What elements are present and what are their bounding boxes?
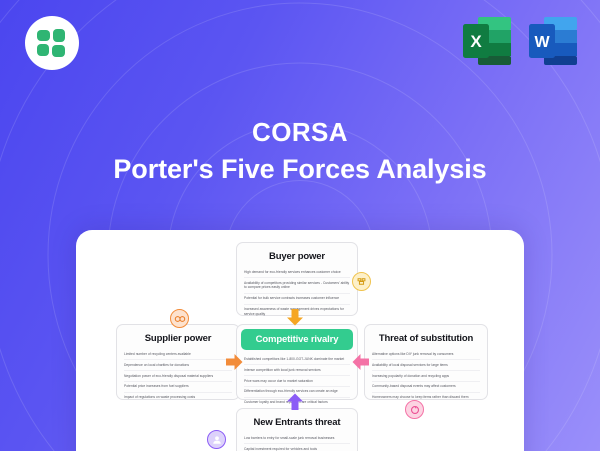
badge-supplier-power[interactable] (170, 309, 189, 328)
recycle-icon (409, 404, 421, 416)
list-item: High demand for eco-friendly services en… (244, 267, 350, 278)
card-new-entrants-threat[interactable]: New Entrants threat Low barriers to entr… (236, 408, 358, 451)
five-forces-board: Buyer power High demand for eco-friendly… (76, 230, 524, 451)
card-title-supplier-power: Supplier power (117, 325, 239, 349)
excel-icon[interactable]: X (460, 14, 514, 68)
list-item: Capital investment required for vehicles… (244, 444, 350, 451)
arrow-left-icon (352, 353, 369, 371)
page-title: CORSA (0, 118, 600, 148)
list-item: Homeowners may choose to keep items rath… (372, 393, 480, 403)
card-competitive-rivalry[interactable]: Competitive rivalry Established competit… (236, 324, 358, 400)
bullets-threat-of-substitution: Alternative options like DIY junk remova… (365, 349, 487, 410)
slide-canvas: X W CORSA Porter's Five Forces Analysis … (0, 0, 600, 451)
list-item: Potential price increases from fuel supp… (124, 382, 232, 393)
list-item: Increasing popularity of donation and re… (372, 371, 480, 382)
arrow-up-icon (286, 393, 304, 410)
list-item: Availability of competitors providing si… (244, 278, 350, 294)
brand-logo[interactable] (25, 16, 79, 70)
badge-buyer-power[interactable] (352, 272, 371, 291)
list-item: Limited number of recycling centers avai… (124, 349, 232, 360)
list-item: Potential for bulk service contracts inc… (244, 294, 350, 305)
bullets-supplier-power: Limited number of recycling centers avai… (117, 349, 239, 410)
list-item: Availability of local disposal services … (372, 360, 480, 371)
card-buyer-power[interactable]: Buyer power High demand for eco-friendly… (236, 242, 358, 316)
badge-new-entrants-threat[interactable] (207, 430, 226, 449)
card-title-competitive-rivalry: Competitive rivalry (241, 329, 353, 350)
diagram-panel: Buyer power High demand for eco-friendly… (76, 230, 524, 451)
list-item: Established competitors like 1-800-GOT-J… (244, 354, 350, 365)
list-item: Alternative options like DIY junk remova… (372, 349, 480, 360)
list-item: Community-based disposal events may affe… (372, 382, 480, 393)
arrow-right-icon (226, 353, 243, 371)
list-item: Dependence on local charities for donati… (124, 360, 232, 371)
user-icon (211, 434, 223, 446)
grid-blocks-logo-icon (37, 29, 67, 57)
title-block: CORSA Porter's Five Forces Analysis (0, 118, 600, 187)
card-title-new-entrants-threat: New Entrants threat (237, 409, 357, 433)
arrow-down-icon (286, 309, 304, 326)
badge-threat-of-substitution[interactable] (405, 400, 424, 419)
svg-text:X: X (470, 32, 482, 51)
svg-text:W: W (534, 34, 550, 51)
card-title-buyer-power: Buyer power (237, 243, 357, 267)
word-icon[interactable]: W (526, 14, 580, 68)
list-item: Impact of regulations on waste processin… (124, 393, 232, 403)
card-supplier-power[interactable]: Supplier power Limited number of recycli… (116, 324, 240, 400)
list-item: Price wars may occur due to market satur… (244, 376, 350, 387)
card-threat-of-substitution[interactable]: Threat of substitution Alternative optio… (364, 324, 488, 400)
handshake-icon (356, 276, 367, 287)
card-title-threat-of-substitution: Threat of substitution (365, 325, 487, 349)
link-chain-icon (174, 313, 186, 325)
list-item: Low barriers to entry for small-scale ju… (244, 433, 350, 444)
bullets-new-entrants-threat: Low barriers to entry for small-scale ju… (237, 433, 357, 451)
page-subtitle: Porter's Five Forces Analysis (0, 152, 600, 187)
list-item: Negotiation power of eco-friendly dispos… (124, 371, 232, 382)
list-item: Intense competition with local junk remo… (244, 365, 350, 376)
